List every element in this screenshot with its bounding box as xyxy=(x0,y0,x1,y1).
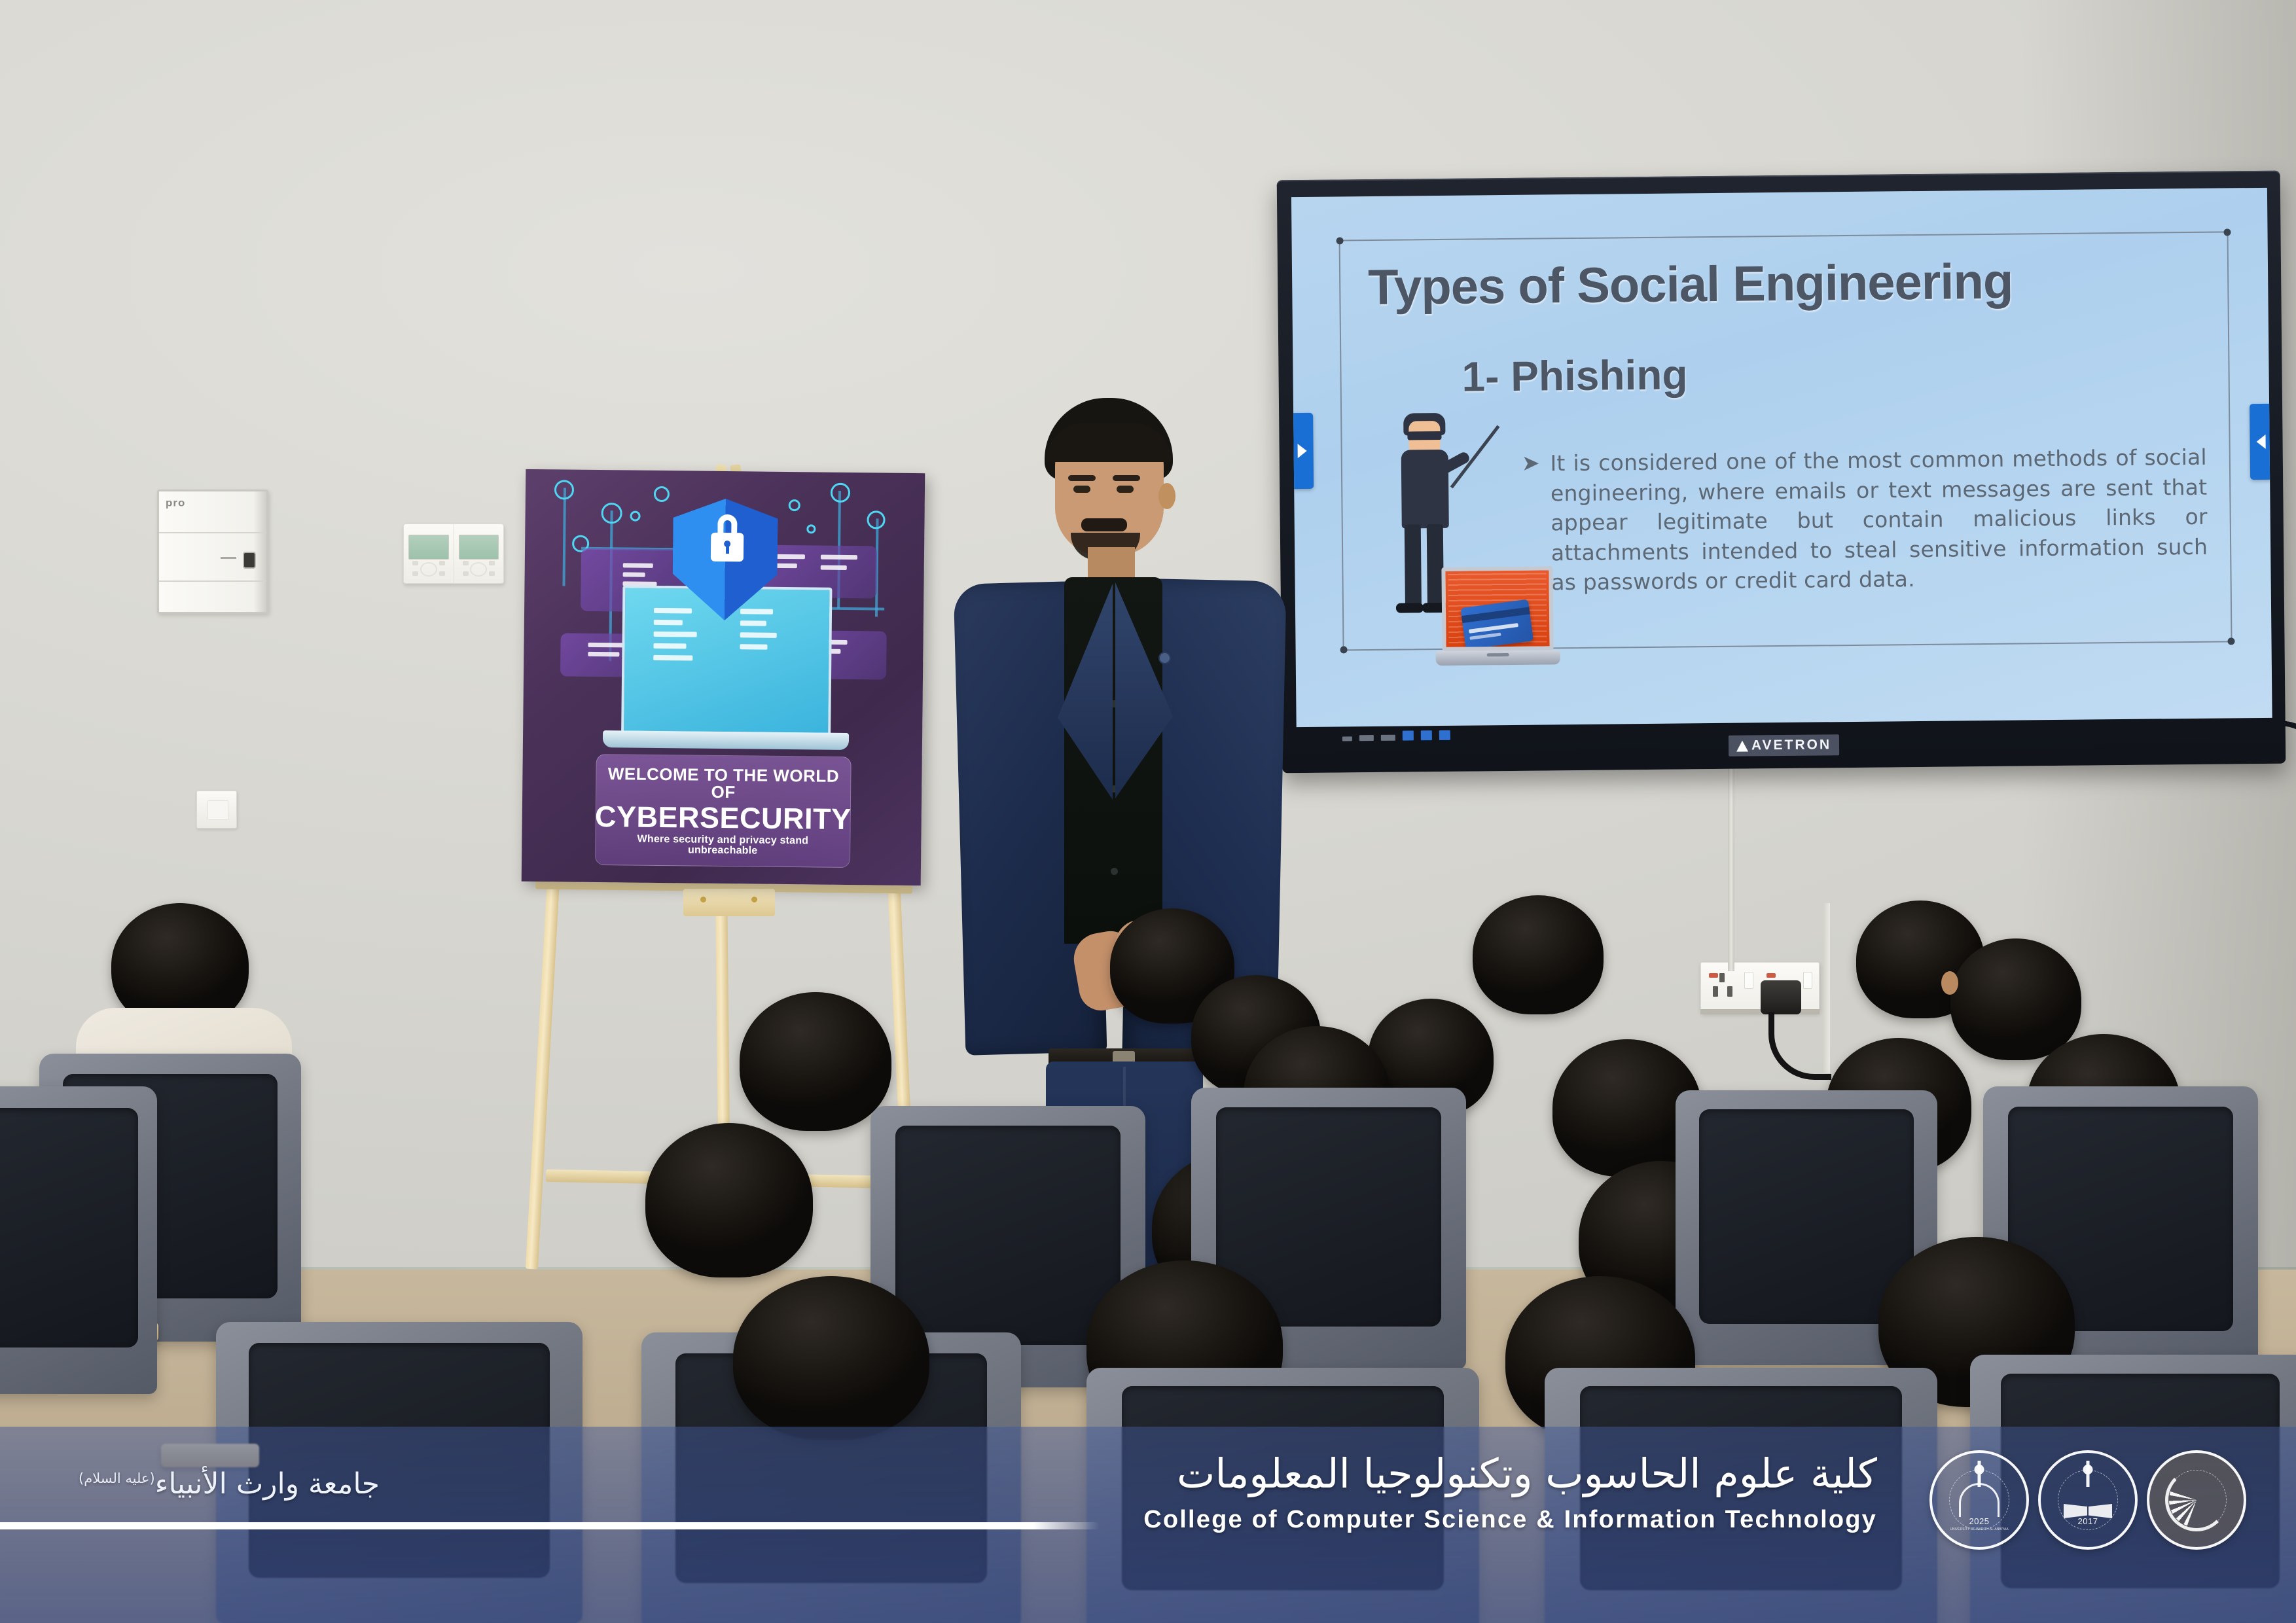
cybersecurity-poster: WELCOME TO THE WORLD OF CYBERSECURITY Wh… xyxy=(522,469,925,885)
slide-subtitle: 1- Phishing xyxy=(1462,350,1688,401)
audience-head xyxy=(1473,895,1604,1014)
lecture-hall-photo: pro xyxy=(0,0,2296,1623)
hacker-illustration-icon xyxy=(1371,410,1556,687)
college-name-arabic: كلية علوم الحاسوب وتكنولوجيا المعلومات xyxy=(1143,1450,1877,1497)
college-title-block: كلية علوم الحاسوب وتكنولوجيا المعلومات C… xyxy=(1143,1450,1877,1534)
audience-head xyxy=(740,992,891,1131)
panel-lock-icon xyxy=(243,552,256,569)
poster-line-2: CYBERSECURITY xyxy=(595,801,852,833)
audience-head xyxy=(1950,938,2081,1060)
thermostat-dial[interactable] xyxy=(470,562,487,577)
poster-tagline: Where security and privacy stand unbreac… xyxy=(602,834,843,857)
electrical-panel: pro xyxy=(157,490,268,614)
thermostat-dial[interactable] xyxy=(420,562,437,577)
university-college-seal-icon: 2025 UNIVERSITY OF WARITH AL-ANBIYAA xyxy=(1929,1450,2029,1550)
university-name-arabic: جامعة وارث الأنبياء(عليه السلام) xyxy=(79,1467,380,1501)
electrical-panel-label: pro xyxy=(166,497,185,509)
banner-divider xyxy=(0,1522,1100,1529)
panel-handle-icon xyxy=(221,557,236,559)
display-brand-name: AVETRON xyxy=(1751,737,1831,753)
institution-banner: جامعة وارث الأنبياء(عليه السلام) كلية عل… xyxy=(0,1427,2296,1623)
thermostat-lcd xyxy=(459,535,499,560)
college-name-english: College of Computer Science & Informatio… xyxy=(1143,1506,1877,1534)
thermostat-right[interactable] xyxy=(454,524,504,583)
ministry-seal-icon xyxy=(2147,1450,2246,1550)
thermostat-lcd xyxy=(408,535,449,560)
ac-thermostat-pair[interactable] xyxy=(403,524,504,584)
institution-logos: 2025 UNIVERSITY OF WARITH AL-ANBIYAA 201… xyxy=(1929,1450,2246,1550)
audience-head xyxy=(733,1276,929,1440)
avetron-logo-icon xyxy=(1736,740,1748,751)
slide-bullet: ➤ It is considered one of the most commo… xyxy=(1522,442,2208,598)
poster-line-1: WELCOME TO THE WORLD OF xyxy=(603,765,844,802)
board-menu-tab-right[interactable] xyxy=(2250,404,2272,480)
laptop-icon xyxy=(1435,566,1560,679)
poster-caption: WELCOME TO THE WORLD OF CYBERSECURITY Wh… xyxy=(595,754,852,868)
slide-title: Types of Social Engineering xyxy=(1368,253,2013,316)
display-screen[interactable]: Types of Social Engineering 1- Phishing … xyxy=(1291,188,2272,727)
credit-card-icon xyxy=(1460,599,1534,650)
lapel-pin-icon xyxy=(1160,653,1170,663)
display-brand-plate: AVETRON xyxy=(1282,718,2286,774)
audience-head xyxy=(645,1123,813,1277)
auditorium-seat xyxy=(0,1086,157,1394)
interactive-display[interactable]: Types of Social Engineering 1- Phishing … xyxy=(1277,171,2286,774)
presentation-slide: Types of Social Engineering 1- Phishing … xyxy=(1291,188,2272,727)
thermostat-left[interactable] xyxy=(404,524,454,583)
light-switch[interactable] xyxy=(196,791,237,829)
slide-bullet-text: It is considered one of the most common … xyxy=(1550,442,2208,597)
university-seal-icon: 2017 xyxy=(2038,1450,2138,1550)
